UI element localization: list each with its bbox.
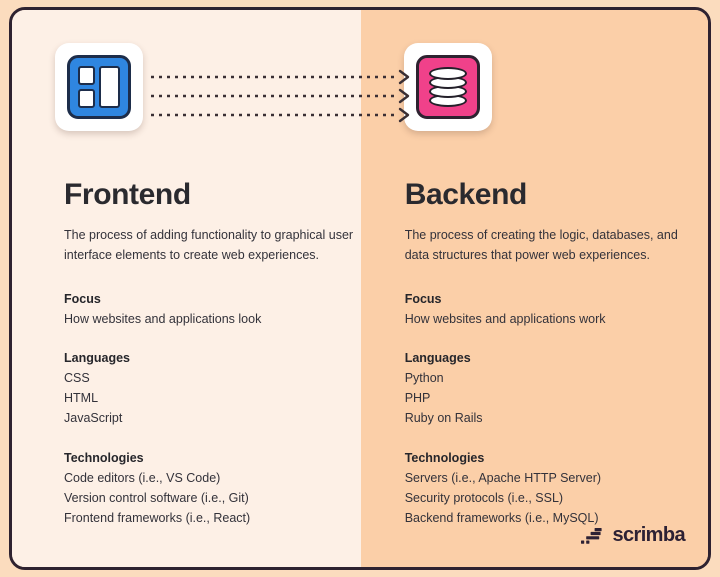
section-item: Code editors (i.e., VS Code): [64, 468, 364, 488]
frontend-title: Frontend: [64, 178, 364, 211]
section-item: How websites and applications look: [64, 309, 364, 329]
layout-icon: [67, 55, 131, 119]
section-item: CSS: [64, 368, 364, 388]
database-icon-disc: [429, 67, 467, 80]
section-item: JavaScript: [64, 408, 364, 428]
scrimba-logo: scrimba: [581, 525, 685, 545]
section-heading: Technologies: [405, 451, 705, 465]
section-item: Ruby on Rails: [405, 408, 705, 428]
backend-section-focus: Focus How websites and applications work: [405, 292, 705, 329]
frontend-section-languages: Languages CSS HTML JavaScript: [64, 351, 364, 429]
backend-panel: Backend The process of creating the logi…: [361, 10, 708, 567]
section-item: Python: [405, 368, 705, 388]
layout-icon-box-bottom-left: [78, 89, 95, 108]
backend-icon-card: [404, 43, 492, 131]
section-item: HTML: [64, 388, 364, 408]
section-item: Version control software (i.e., Git): [64, 488, 364, 508]
section-item: Security protocols (i.e., SSL): [405, 488, 705, 508]
scrimba-mark-icon: [581, 528, 607, 545]
backend-description: The process of creating the logic, datab…: [405, 225, 705, 266]
backend-section-languages: Languages Python PHP Ruby on Rails: [405, 351, 705, 429]
section-item: Servers (i.e., Apache HTTP Server): [405, 468, 705, 488]
layout-icon-box-top-left: [78, 66, 95, 85]
frontend-icon-card: [55, 43, 143, 131]
frontend-description: The process of adding functionality to g…: [64, 225, 364, 266]
scrimba-logo-text: scrimba: [612, 525, 685, 545]
section-heading: Languages: [64, 351, 364, 365]
section-item: How websites and applications work: [405, 309, 705, 329]
database-icon: [416, 55, 480, 119]
backend-title: Backend: [405, 178, 705, 211]
frontend-section-focus: Focus How websites and applications look: [64, 292, 364, 329]
frontend-panel: Frontend The process of adding functiona…: [12, 10, 361, 567]
section-item: Frontend frameworks (i.e., React): [64, 508, 364, 528]
section-heading: Focus: [64, 292, 364, 306]
backend-section-technologies: Technologies Servers (i.e., Apache HTTP …: [405, 451, 705, 529]
backend-content: Backend The process of creating the logi…: [405, 178, 705, 528]
layout-icon-box-right: [99, 66, 120, 108]
section-item: PHP: [405, 388, 705, 408]
section-heading: Focus: [405, 292, 705, 306]
frontend-section-technologies: Technologies Code editors (i.e., VS Code…: [64, 451, 364, 529]
infographic-frame: Frontend The process of adding functiona…: [9, 7, 711, 570]
section-heading: Languages: [405, 351, 705, 365]
section-heading: Technologies: [64, 451, 364, 465]
frontend-content: Frontend The process of adding functiona…: [64, 178, 364, 528]
